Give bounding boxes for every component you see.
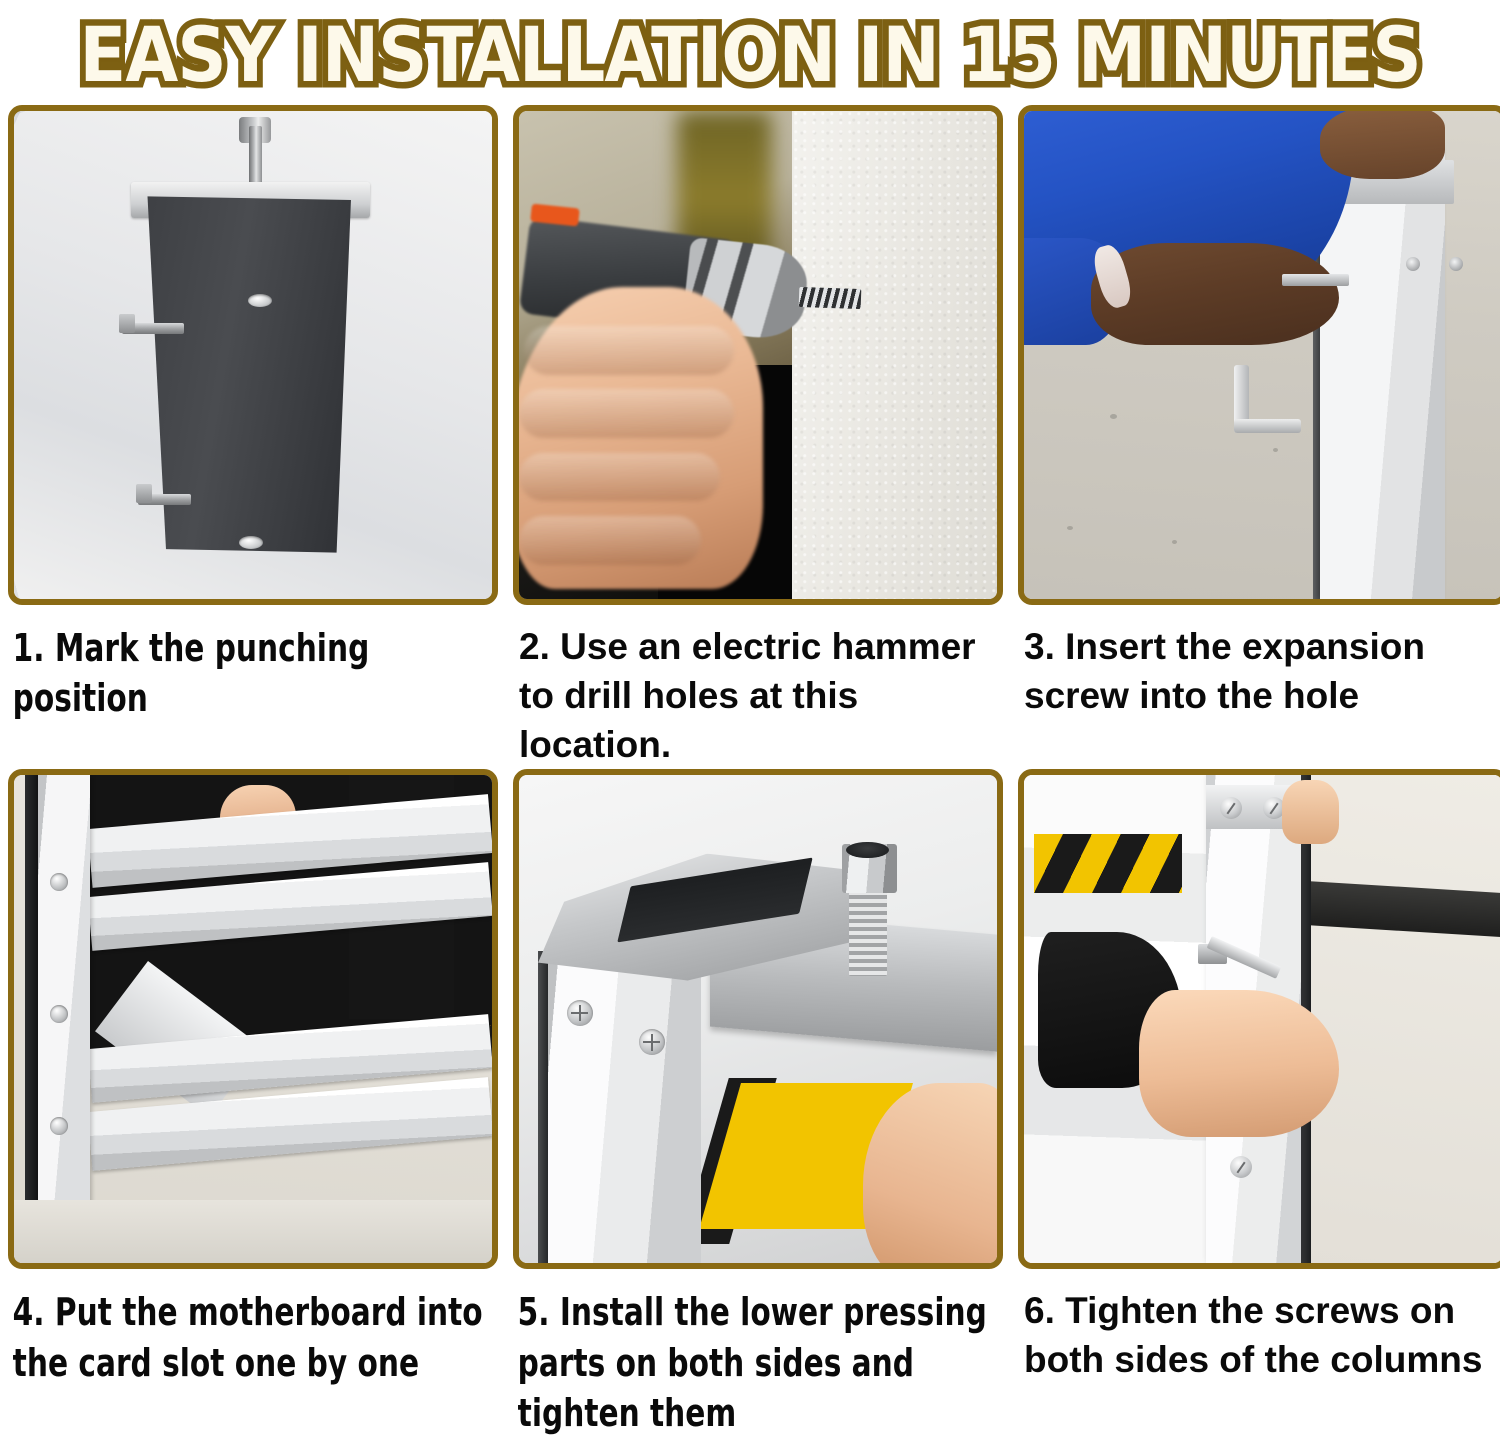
step-caption-3: 3. Insert the expansion screw into the h… bbox=[1018, 605, 1500, 737]
bracket-screw bbox=[567, 1000, 593, 1026]
page-title: EASY INSTALLATION IN 15 MINUTES bbox=[79, 17, 1420, 93]
bracket-screw bbox=[639, 1029, 665, 1055]
step-photo-3 bbox=[1018, 105, 1500, 605]
drill-bit bbox=[798, 287, 861, 309]
textured-wall bbox=[792, 111, 997, 599]
post-dark-edge bbox=[25, 775, 39, 1204]
step-caption-6: 6. Tighten the screws on both sides of t… bbox=[1018, 1269, 1500, 1401]
installer-hand bbox=[1139, 990, 1340, 1136]
step-cell-4: 4. Put the motherboard into the card slo… bbox=[8, 769, 498, 1437]
step-cell-3: 3. Insert the expansion screw into the h… bbox=[1018, 105, 1500, 769]
mounting-hole-lower bbox=[239, 536, 263, 549]
hazard-stripe-band bbox=[1034, 834, 1182, 893]
finger-2 bbox=[519, 389, 734, 438]
bolt-thread bbox=[849, 883, 887, 976]
top-bolt-shaft bbox=[249, 126, 262, 186]
side-stud-lower-cap bbox=[136, 484, 152, 503]
floor-speck bbox=[1273, 448, 1278, 452]
step-photo-5-content bbox=[519, 775, 997, 1263]
finger-4 bbox=[519, 516, 701, 565]
step-caption-1: 1. Mark the punching position bbox=[8, 605, 497, 737]
hex-key-short-arm bbox=[1234, 419, 1301, 433]
step-photo-1 bbox=[8, 105, 498, 605]
step-caption-4: 4. Put the motherboard into the card slo… bbox=[8, 1269, 497, 1401]
step-photo-6-content bbox=[1024, 775, 1500, 1263]
floor-speck bbox=[1067, 526, 1073, 530]
hex-key-icon bbox=[1234, 365, 1301, 433]
title-bar: EASY INSTALLATION IN 15 MINUTES bbox=[0, 0, 1500, 105]
floor-speck bbox=[1110, 414, 1117, 419]
column-screw bbox=[1230, 1156, 1252, 1178]
step-caption-2: 2. Use an electric hammer to drill holes… bbox=[513, 605, 1003, 769]
step-photo-3-content bbox=[1024, 111, 1500, 599]
white-column bbox=[548, 951, 701, 1263]
step-cell-6: 6. Tighten the screws on both sides of t… bbox=[1018, 769, 1500, 1437]
step-cell-1: 1. Mark the punching position bbox=[8, 105, 498, 769]
step-caption-5: 5. Install the lower pressing parts on b… bbox=[513, 1269, 1002, 1437]
worker-upper-hand bbox=[1320, 111, 1444, 179]
side-stud-upper-cap bbox=[119, 314, 135, 333]
finger-3 bbox=[519, 453, 720, 502]
expansion-screw bbox=[1282, 274, 1349, 286]
step-cell-5: 5. Install the lower pressing parts on b… bbox=[513, 769, 1003, 1437]
white-post bbox=[38, 775, 91, 1204]
step-photo-4-content bbox=[14, 775, 492, 1263]
step-photo-2 bbox=[513, 105, 1003, 605]
step-photo-6 bbox=[1018, 769, 1500, 1269]
step-photo-1-content bbox=[14, 111, 492, 599]
floor-strip bbox=[14, 1200, 492, 1263]
steps-grid: 1. Mark the punching position 2. Use an … bbox=[0, 105, 1500, 1438]
steadying-hand bbox=[1282, 780, 1339, 843]
step-photo-2-content bbox=[519, 111, 997, 599]
step-cell-2: 2. Use an electric hammer to drill holes… bbox=[513, 105, 1003, 769]
step-photo-5 bbox=[513, 769, 1003, 1269]
step-photo-4 bbox=[8, 769, 498, 1269]
finger-1 bbox=[524, 326, 734, 375]
